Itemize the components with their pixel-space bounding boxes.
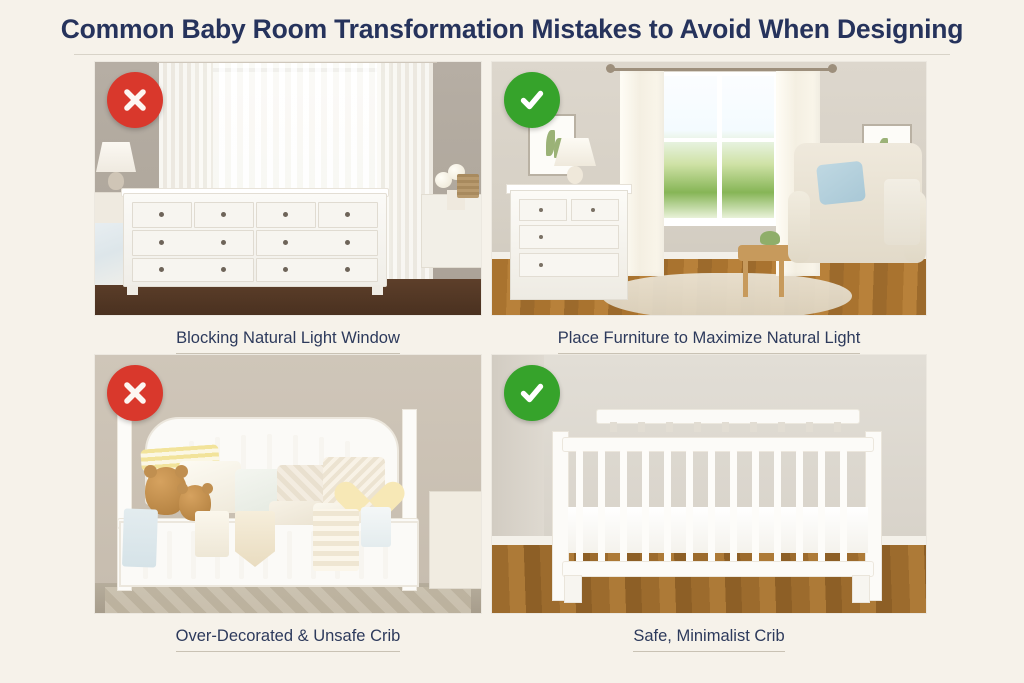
dresser-drawer: [571, 199, 619, 221]
crib-slat: [598, 450, 605, 565]
drawer-knob: [283, 240, 288, 245]
crib-bottom-rail: [562, 561, 874, 577]
draped-blanket: [313, 509, 359, 571]
photo-over-decorated-crib: [95, 355, 481, 613]
panel-maximize-natural-light[interactable]: Place Furniture to Maximize Natural Ligh…: [492, 62, 926, 354]
crib-slat: [287, 531, 292, 579]
panel-safe-minimalist-crib[interactable]: Safe, Minimalist Crib: [492, 355, 926, 652]
nightstand: [429, 491, 481, 589]
draped-blanket: [122, 508, 158, 567]
lamp-shade: [96, 142, 136, 172]
caption-text: Over-Decorated & Unsafe Crib: [176, 627, 401, 652]
crib-back-slat: [666, 422, 673, 432]
dresser-leg: [127, 285, 138, 295]
dresser-drawer: [132, 258, 254, 282]
dresser-drawer: [519, 199, 567, 221]
crib-back-slat: [806, 422, 813, 432]
crib-leg: [564, 575, 582, 603]
crib-slat: [818, 450, 825, 565]
comparison-row-1: Blocking Natural Light Window: [0, 62, 1024, 355]
window-mullion: [664, 138, 774, 142]
caption-over-decorated-crib: Over-Decorated & Unsafe Crib: [95, 613, 481, 652]
crib-slat: [752, 450, 759, 565]
crib-slat: [686, 450, 693, 565]
crib-slat: [167, 531, 172, 579]
drawer-knob: [345, 212, 350, 217]
photo-safe-minimalist-crib: [492, 355, 926, 613]
comparison-row-2: Over-Decorated & Unsafe Crib: [0, 355, 1024, 683]
cross-icon: [107, 72, 163, 128]
check-icon: [504, 365, 560, 421]
crib-back-slat: [750, 422, 757, 432]
drawer-knob: [221, 267, 226, 272]
panel-blocking-natural-light[interactable]: Blocking Natural Light Window: [95, 62, 481, 354]
teddy-bear-ear: [175, 465, 188, 478]
caption-text: Place Furniture to Maximize Natural Ligh…: [558, 329, 861, 354]
crib-slat: [840, 450, 847, 565]
drawer-knob: [539, 208, 543, 212]
window-mullion: [717, 76, 722, 218]
drawer-knob: [221, 212, 226, 217]
crib-slat: [708, 450, 715, 565]
crib-leg: [852, 575, 870, 603]
caption-text: Blocking Natural Light Window: [176, 329, 400, 354]
dresser: [123, 193, 387, 287]
crib-back-slat: [834, 422, 841, 432]
teddy-bear-ear: [202, 483, 213, 494]
side-table-leg: [743, 257, 748, 297]
side-table-leg: [779, 257, 784, 297]
curtain-rod: [610, 68, 832, 71]
check-icon: [504, 72, 560, 128]
dresser-drawer: [256, 258, 378, 282]
panel-over-decorated-crib[interactable]: Over-Decorated & Unsafe Crib: [95, 355, 481, 652]
crib-slat: [664, 450, 671, 565]
crib-back-slat: [638, 422, 645, 432]
armchair-arm: [788, 191, 810, 263]
drawer-knob: [159, 240, 164, 245]
drawer-knob: [159, 267, 164, 272]
woven-basket: [457, 174, 479, 198]
area-rug: [602, 273, 852, 315]
draped-blanket: [361, 507, 391, 547]
throw-blanket: [884, 179, 920, 245]
caption-maximize-natural-light: Place Furniture to Maximize Natural Ligh…: [492, 315, 926, 354]
crib-slat: [774, 450, 781, 565]
crib-slat: [576, 450, 583, 565]
dresser-drawer: [132, 230, 254, 256]
curtain-rod-finial: [828, 64, 837, 73]
accent-pillow: [816, 161, 866, 206]
curtain-rod-finial: [606, 64, 615, 73]
caption-text: Safe, Minimalist Crib: [633, 627, 784, 652]
drawer-knob: [159, 212, 164, 217]
crib-slat: [796, 450, 803, 565]
drawer-knob: [591, 208, 595, 212]
crib-slat: [730, 450, 737, 565]
crib-back-slat: [610, 422, 617, 432]
window: [660, 72, 778, 222]
title-divider: [74, 54, 950, 55]
draped-blanket: [195, 511, 229, 557]
drawer-knob: [539, 235, 543, 239]
crib-back-slat: [694, 422, 701, 432]
crib-top-rail: [562, 437, 874, 452]
dresser: [510, 190, 628, 300]
drawer-knob: [345, 240, 350, 245]
drawer-knob: [221, 240, 226, 245]
dresser-drawer: [256, 230, 378, 256]
dresser-drawer: [519, 225, 619, 249]
cross-icon: [107, 365, 163, 421]
window-sill: [654, 220, 786, 226]
comparison-grid: Blocking Natural Light Window: [0, 62, 1024, 683]
crib-back-slat: [778, 422, 785, 432]
drawer-knob: [539, 263, 543, 267]
crib-back-slat: [722, 422, 729, 432]
caption-blocking-natural-light: Blocking Natural Light Window: [95, 315, 481, 354]
drawer-knob: [283, 267, 288, 272]
dresser-drawer: [519, 253, 619, 277]
infographic-root: Common Baby Room Transformation Mistakes…: [0, 0, 1024, 683]
crib: [552, 409, 882, 599]
curtain-rod: [157, 62, 437, 63]
lamp-base: [567, 166, 583, 184]
potted-plant: [760, 231, 780, 245]
drawer-knob: [345, 267, 350, 272]
photo-maximize-natural-light: [492, 62, 926, 315]
crib: [117, 401, 417, 591]
page-title: Common Baby Room Transformation Mistakes…: [0, 14, 1024, 44]
dresser-leg: [372, 285, 383, 295]
caption-safe-minimalist-crib: Safe, Minimalist Crib: [492, 613, 926, 652]
crib-slat: [642, 450, 649, 565]
page-title-wrapper: Common Baby Room Transformation Mistakes…: [0, 14, 1024, 44]
teddy-bear-ear: [177, 483, 188, 494]
drawer-knob: [283, 212, 288, 217]
heart-cushion: [347, 467, 391, 503]
photo-blocking-natural-light: [95, 62, 481, 315]
crib-slat: [620, 450, 627, 565]
teddy-bear-ear: [144, 465, 157, 478]
